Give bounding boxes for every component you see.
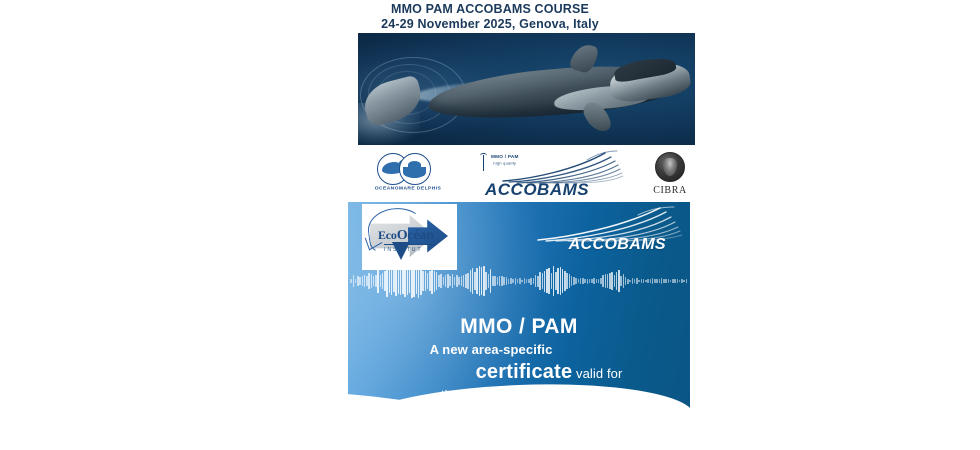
- waveform-bar: [458, 277, 460, 285]
- oceanomare-delphis-caption: OCEANOMARE DELPHIS: [351, 185, 464, 191]
- waveform-bar: [551, 273, 553, 290]
- waveform-bar: [587, 279, 589, 284]
- eco-word: Eco: [378, 228, 397, 242]
- waveform-bar: [494, 276, 496, 286]
- waveform-bar: [485, 272, 487, 291]
- waveform-bar: [632, 278, 634, 284]
- wave-circle-icon: [399, 153, 431, 185]
- waveform-bar: [683, 280, 685, 283]
- waveform-bar: [641, 279, 643, 284]
- accobams-logo: MMO / PAM high quality ACCOBAMS: [465, 150, 633, 200]
- waveform-bar: [467, 273, 469, 288]
- waveform-bar: [416, 268, 418, 294]
- waveform-bar: [362, 276, 364, 287]
- waveform-bar: [686, 279, 688, 284]
- cibra-caption: CIBRA: [637, 185, 703, 196]
- institut-word: INSTITUT: [384, 244, 436, 253]
- ecoocean-institut-logo: EcoOcéan INSTITUT: [362, 204, 457, 270]
- waveform-bar: [623, 274, 625, 287]
- waveform-bar: [512, 279, 514, 283]
- waveform-bar: [647, 279, 649, 283]
- waveform-bar: [555, 272, 557, 290]
- wave-glyph: [403, 167, 426, 178]
- partner-logo-strip: OCEANOMARE DELPHIS MMO / PAM high qualit…: [355, 150, 705, 200]
- waveform-bar: [407, 267, 409, 295]
- waveform-bar: [413, 266, 415, 297]
- waveform-bar: [449, 276, 451, 285]
- waveform-bar: [665, 279, 667, 283]
- waveform-bar: [452, 274, 454, 288]
- waveform-bar: [668, 279, 670, 283]
- waveform-bar: [674, 279, 676, 283]
- waveform-bar: [602, 275, 604, 287]
- waveform-bar: [440, 274, 442, 287]
- waveform-bar: [350, 279, 352, 282]
- waveform-bar: [395, 266, 397, 296]
- waveform-bar: [566, 273, 568, 289]
- ocean-word: Océan: [397, 228, 434, 243]
- waveform-bar: [506, 277, 508, 284]
- waveform-bar: [425, 271, 427, 292]
- waveform-bar: [380, 275, 382, 287]
- waveform-bar: [548, 268, 550, 294]
- waveform-bar: [524, 278, 526, 284]
- ecoocean-wordmark: EcoOcéan: [378, 226, 434, 244]
- waveform-bar: [638, 280, 640, 283]
- waveform-bar: [434, 271, 436, 292]
- waveform-bar: [620, 276, 622, 286]
- cibra-logo: CIBRA: [637, 152, 703, 196]
- waveform-bar: [479, 266, 481, 296]
- waveform-bar: [656, 279, 658, 283]
- waveform-bar: [384, 271, 386, 292]
- waveform-bar: [629, 280, 631, 283]
- waveform-bar: [533, 278, 535, 284]
- hydrophone-icon: [483, 155, 484, 171]
- waveform-bar: [557, 268, 559, 293]
- waveform-bar: [461, 276, 463, 287]
- waveform-bar: [375, 275, 377, 287]
- waveform-bar: [542, 273, 544, 289]
- waveform-bar: [422, 271, 424, 291]
- waveform-bar: [611, 272, 613, 289]
- poster-accobams-logo: ACCOBAMS: [532, 206, 684, 262]
- waveform-bar: [539, 272, 541, 290]
- waveform-bar: [377, 269, 379, 293]
- waveform-bar: [596, 279, 598, 283]
- waveform-bar: [398, 268, 400, 294]
- waveform-bar: [488, 274, 490, 288]
- course-title: MMO PAM ACCOBAMS COURSE: [0, 2, 980, 17]
- waveform-bar: [443, 277, 445, 285]
- waveform-bar: [503, 277, 505, 284]
- waveform-bar: [368, 273, 370, 289]
- waveform-bar: [474, 272, 476, 290]
- accobams-wordmark: ACCOBAMS: [485, 180, 589, 200]
- poster-accobams-wordmark: ACCOBAMS: [569, 236, 666, 254]
- dolphin-whale-icon: [377, 153, 439, 183]
- waveform-bar: [476, 268, 478, 293]
- waveform-bar: [677, 279, 679, 283]
- waveform-bar: [578, 279, 580, 283]
- waveform-bar: [497, 277, 499, 285]
- accobams-arc-icon: [501, 150, 627, 184]
- course-poster: EcoOcéan INSTITUT ACCOBAMS MMO / PAM A n…: [348, 202, 690, 425]
- waveform-bar: [659, 279, 661, 283]
- certificate-word: certificate: [476, 361, 573, 383]
- poster-subtitle: A new area-specific: [348, 342, 662, 358]
- waveform-bar: [530, 278, 532, 285]
- waveform-bar: [575, 278, 577, 284]
- waveform-bar: [371, 274, 373, 288]
- certificate-tail: valid for: [576, 366, 622, 381]
- waveform-bar: [521, 280, 523, 283]
- poster-title: MMO / PAM: [348, 314, 690, 340]
- oceanomare-delphis-logo: OCEANOMARE DELPHIS: [360, 153, 456, 190]
- course-dates-location: 24-29 November 2025, Genova, Italy: [0, 17, 980, 32]
- waveform-bar: [359, 277, 361, 286]
- waveform-bar: [560, 267, 562, 295]
- waveform-bar: [431, 268, 433, 295]
- waveform-bar: [605, 274, 607, 287]
- waveform-bar: [569, 274, 571, 288]
- cibra-crest-icon: [655, 152, 685, 182]
- waveform-bar: [393, 270, 395, 291]
- waveform-bar: [584, 279, 586, 284]
- waveform-bar: [429, 271, 431, 291]
- waveform-bar: [470, 270, 472, 292]
- fin-whale-photo: [358, 33, 695, 145]
- poster-certificate-line: certificate valid for: [378, 360, 690, 385]
- waveform-bar: [593, 278, 595, 284]
- waveform-bar: [389, 269, 391, 292]
- waveform-bar: [650, 279, 652, 283]
- waveform-bar: [515, 278, 517, 285]
- page-header: MMO PAM ACCOBAMS COURSE 24-29 November 2…: [0, 2, 980, 32]
- waveform-bar: [614, 275, 616, 287]
- waveform-bar: [353, 275, 355, 286]
